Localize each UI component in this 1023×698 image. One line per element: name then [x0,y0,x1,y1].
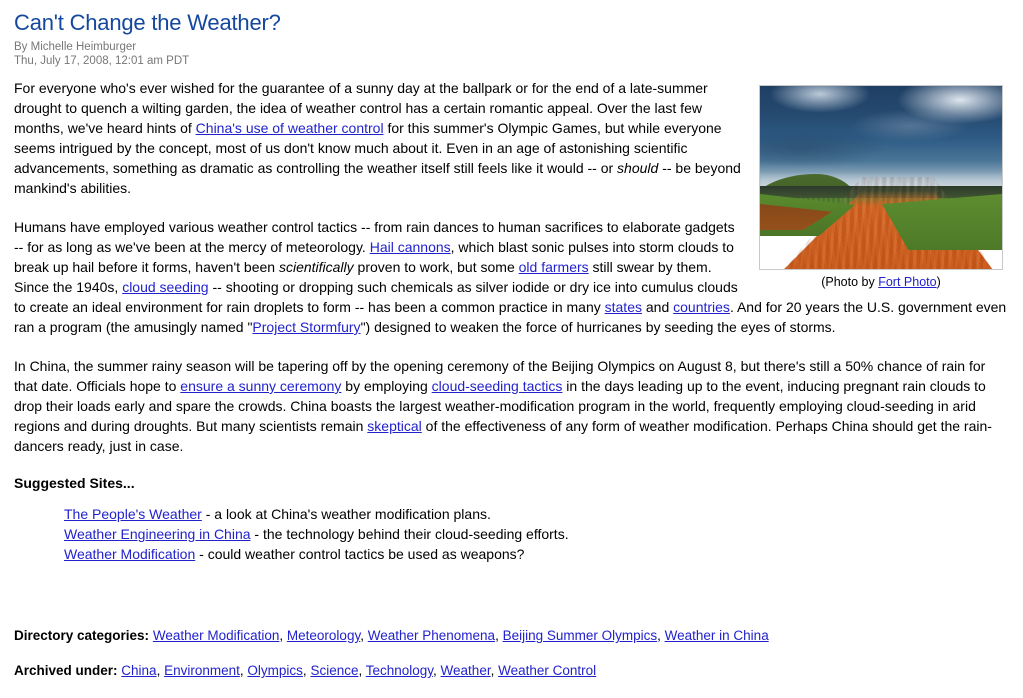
link-dir-weather-modification[interactable]: Weather Modification [153,628,280,643]
link-arch-environment[interactable]: Environment [164,663,240,678]
sep: , [157,663,165,678]
list-item: Weather Modification - could weather con… [64,544,1009,564]
link-dir-beijing-summer-olympics[interactable]: Beijing Summer Olympics [503,628,658,643]
byline-date: Thu, July 17, 2008, 12:01 am PDT [14,54,1009,68]
link-arch-weather[interactable]: Weather [441,663,491,678]
site-desc: - could weather control tactics be used … [195,546,524,562]
p2-text-h: ") designed to weaken the force of hurri… [361,319,836,335]
directory-categories-links: Weather Modification, Meteorology, Weath… [153,628,769,643]
link-weather-modification[interactable]: Weather Modification [64,546,195,562]
page-title: Can't Change the Weather? [14,10,1009,36]
link-old-farmers[interactable]: old farmers [519,259,589,275]
p2-emphasis-scientifically: scientifically [279,259,354,275]
sep: , [657,628,665,643]
byline-author: By Michelle Heimburger [14,40,1009,54]
site-desc: - the technology behind their cloud-seed… [251,526,569,542]
link-dir-weather-phenomena[interactable]: Weather Phenomena [368,628,495,643]
storm-road-photo [759,85,1003,270]
link-states[interactable]: states [605,299,642,315]
link-arch-weather-control[interactable]: Weather Control [498,663,596,678]
link-project-stormfury[interactable]: Project Stormfury [252,319,360,335]
link-dir-meteorology[interactable]: Meteorology [287,628,360,643]
p3-text-b: by employing [341,378,431,394]
link-arch-china[interactable]: China [121,663,156,678]
link-arch-science[interactable]: Science [310,663,358,678]
link-cloud-seeding[interactable]: cloud seeding [122,279,208,295]
p2-text-c: proven to work, but some [354,259,519,275]
sep: , [433,663,441,678]
article-figure: (Photo by Fort Photo) [757,85,1005,289]
link-dir-weather-in-china[interactable]: Weather in China [665,628,769,643]
link-arch-olympics[interactable]: Olympics [247,663,303,678]
sep: , [495,628,503,643]
link-ensure-a-sunny-ceremony[interactable]: ensure a sunny ceremony [180,378,341,394]
paragraph-3: In China, the summer rainy season will b… [14,356,1009,456]
photo-caption: (Photo by Fort Photo) [757,275,1005,289]
photo-credit-link[interactable]: Fort Photo [878,275,936,289]
site-desc: - a look at China's weather modification… [202,506,491,522]
sep: , [360,628,368,643]
archived-under-label: Archived under: [14,663,118,678]
p2-text-f: and [642,299,673,315]
byline: By Michelle Heimburger Thu, July 17, 200… [14,40,1009,68]
sep: , [358,663,365,678]
archived-under: Archived under: China, Environment, Olym… [14,661,596,681]
archived-under-links: China, Environment, Olympics, Science, T… [121,663,596,678]
list-item: Weather Engineering in China - the techn… [64,524,1009,544]
link-arch-technology[interactable]: Technology [366,663,433,678]
directory-categories-label: Directory categories: [14,628,149,643]
link-cloud-seeding-tactics[interactable]: cloud-seeding tactics [432,378,563,394]
p1-emphasis-should: should [617,160,658,176]
link-skeptical[interactable]: skeptical [367,418,421,434]
article-page: Can't Change the Weather? By Michelle He… [0,0,1023,698]
directory-categories: Directory categories: Weather Modificati… [14,626,769,646]
link-the-peoples-weather[interactable]: The People's Weather [64,506,202,522]
link-hail-cannons[interactable]: Hail cannons [370,239,451,255]
link-countries[interactable]: countries [673,299,730,315]
sep: , [279,628,287,643]
caption-prefix: (Photo by [821,275,878,289]
link-chinas-use-of-weather-control[interactable]: China's use of weather control [196,120,384,136]
suggested-sites-heading: Suggested Sites... [14,475,1009,491]
suggested-sites-list: The People's Weather - a look at China's… [64,504,1009,564]
list-item: The People's Weather - a look at China's… [64,504,1009,524]
link-weather-engineering-in-china[interactable]: Weather Engineering in China [64,526,251,542]
sep: , [491,663,499,678]
caption-suffix: ) [937,275,941,289]
